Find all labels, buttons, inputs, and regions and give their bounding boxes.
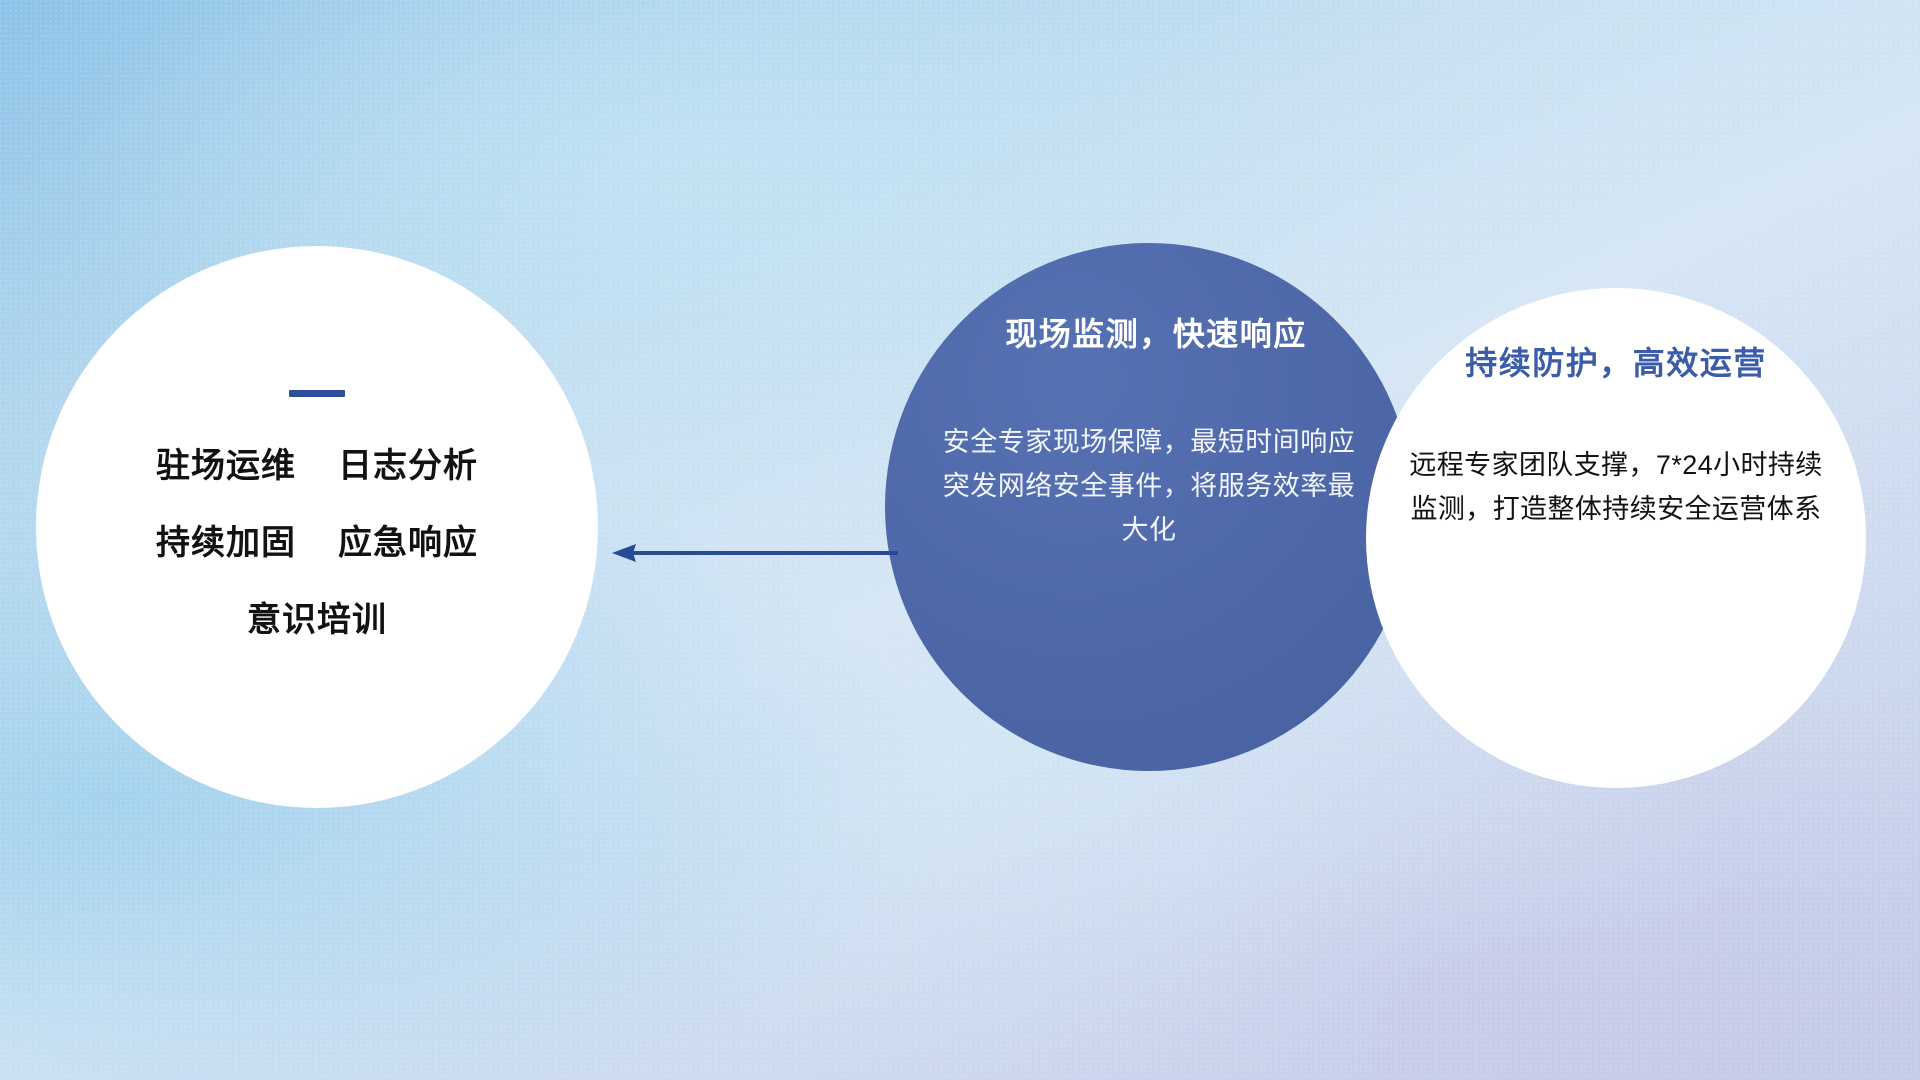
slide-canvas: 驻场运维 日志分析 持续加固 应急响应 意识培训 现场监测，快速响应 安全专家现… bbox=[0, 0, 1920, 1080]
capability-circle-middle: 现场监测，快速响应 安全专家现场保障，最短时间响应突发网络安全事件，将服务效率最… bbox=[885, 243, 1413, 771]
capability-circle-right: 持续防护，高效运营 远程专家团队支撑，7*24小时持续监测，打造整体持续安全运营… bbox=[1366, 288, 1866, 788]
middle-circle-content: 现场监测，快速响应 安全专家现场保障，最短时间响应突发网络安全事件，将服务效率最… bbox=[885, 243, 1413, 771]
keyword-row: 持续加固 应急响应 bbox=[156, 526, 478, 560]
keyword-item: 持续加固 bbox=[156, 526, 296, 560]
divider-dash-icon bbox=[289, 390, 345, 397]
right-circle-body: 远程专家团队支撑，7*24小时持续监测，打造整体持续安全运营体系 bbox=[1398, 444, 1834, 531]
middle-circle-body: 安全专家现场保障，最短时间响应突发网络安全事件，将服务效率最大化 bbox=[931, 421, 1367, 552]
left-circle-content: 驻场运维 日志分析 持续加固 应急响应 意识培训 bbox=[36, 246, 598, 808]
keyword-item: 应急响应 bbox=[338, 526, 478, 560]
keyword-item: 日志分析 bbox=[338, 449, 478, 483]
flow-arrow-left-icon bbox=[610, 540, 900, 566]
keyword-row: 驻场运维 日志分析 bbox=[156, 449, 478, 483]
keyword-item: 驻场运维 bbox=[156, 449, 296, 483]
right-circle-title: 持续防护，高效运营 bbox=[1398, 344, 1834, 382]
capability-circle-left: 驻场运维 日志分析 持续加固 应急响应 意识培训 bbox=[36, 246, 598, 808]
keyword-item: 意识培训 bbox=[247, 603, 387, 637]
middle-circle-title: 现场监测，快速响应 bbox=[945, 315, 1367, 353]
right-circle-content: 持续防护，高效运营 远程专家团队支撑，7*24小时持续监测，打造整体持续安全运营… bbox=[1366, 288, 1866, 788]
keyword-row: 意识培训 bbox=[247, 603, 387, 637]
